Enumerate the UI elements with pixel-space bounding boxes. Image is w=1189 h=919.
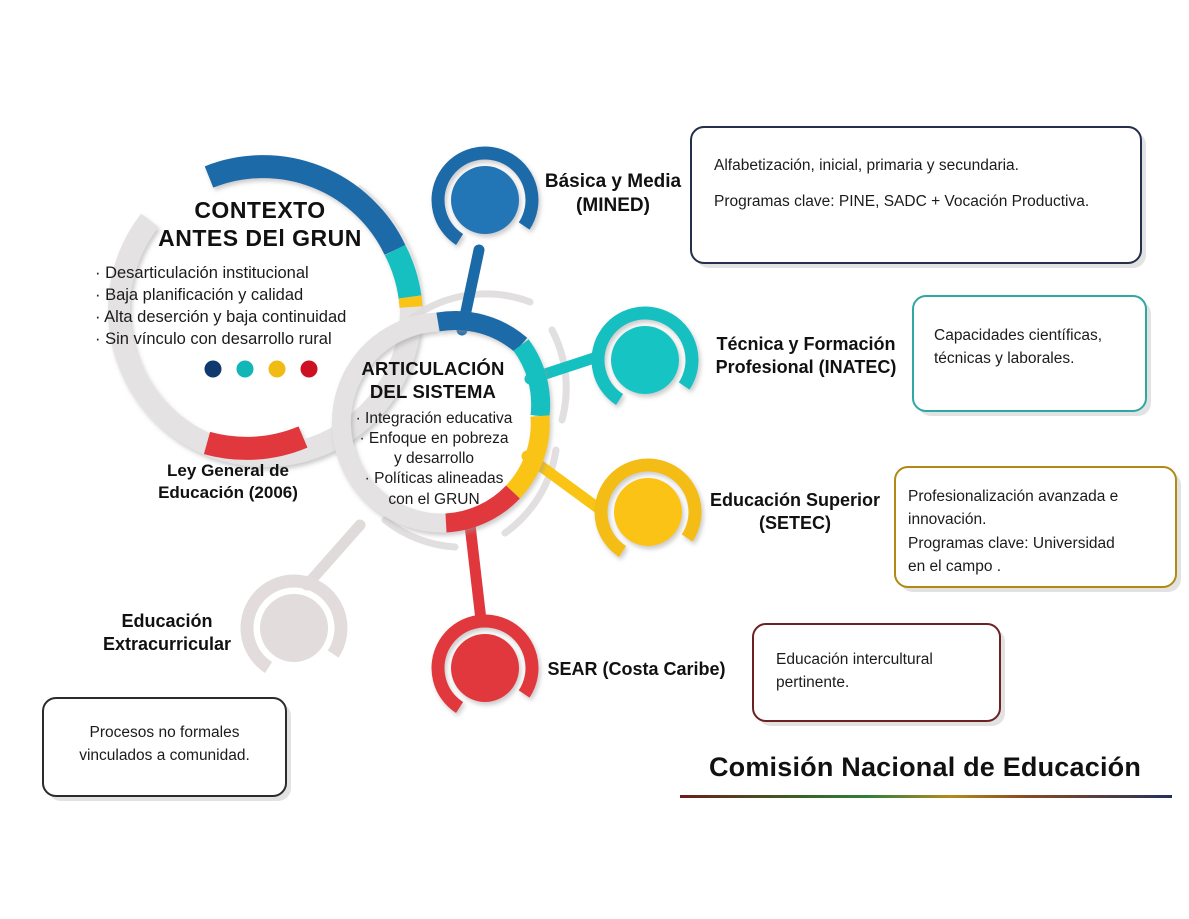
context-bullets: · Desarticulación institucional · Baja p… [95, 262, 430, 350]
node-label-setec: Educación Superior (SETEC) [697, 489, 893, 534]
center-title: ARTICULACIÓN DEL SISTEMA [338, 357, 528, 403]
callout-mined: Alfabetización, inicial, primaria y secu… [690, 126, 1142, 264]
node-label-mined: Básica y Media (MINED) [533, 170, 693, 218]
context-bullet: · Desarticulación institucional [95, 262, 430, 284]
legend-dots [205, 361, 318, 378]
center-bullets: · Integración educativa · Enfoque en pob… [330, 409, 538, 510]
callout-setec: Profesionalización avanzada e innovación… [894, 466, 1177, 588]
center-bullet: · Integración educativa [330, 409, 538, 429]
brand-underline [680, 795, 1172, 798]
callout-mined-line: Alfabetización, inicial, primaria y secu… [714, 154, 1118, 177]
node-label-setec-line1: Educación Superior [697, 489, 893, 512]
callout-mined-line: Programas clave: PINE, SADC + Vocación P… [714, 190, 1118, 213]
callout-sear-line: pertinente. [776, 671, 977, 694]
ley-general-label: Ley General de Educación (2006) [118, 460, 338, 504]
callout-sear: Educación intercultural pertinente. [752, 623, 1001, 722]
callout-extracurricular: Procesos no formales vinculados a comuni… [42, 697, 287, 797]
node-label-inatec-line2: Profesional (INATEC) [697, 356, 915, 379]
node-setec[interactable] [591, 455, 705, 569]
node-label-extra-line1: Educación [72, 610, 262, 633]
brand-title: Comisión Nacional de Educación [680, 752, 1170, 783]
callout-extra-line: Procesos no formales [58, 721, 271, 744]
context-bullet: · Baja planificación y calidad [95, 284, 430, 306]
node-label-extra-line2: Extracurricular [72, 633, 262, 656]
center-bullet: · Enfoque en pobreza [330, 429, 538, 449]
context-bullet: · Alta deserción y baja continuidad [95, 306, 430, 328]
node-mined[interactable] [428, 143, 542, 257]
node-label-inatec: Técnica y Formación Profesional (INATEC) [697, 333, 915, 378]
callout-inatec-line: técnicas y laborales. [934, 347, 1125, 370]
node-label-inatec-line1: Técnica y Formación [697, 333, 915, 356]
node-sear[interactable] [428, 611, 542, 725]
node-label-extracurricular: Educación Extracurricular [72, 610, 262, 655]
node-label-mined-line1: Básica y Media [533, 170, 693, 194]
context-title-line1: CONTEXTO [100, 196, 420, 224]
center-title-line1: ARTICULACIÓN [338, 357, 528, 380]
callout-setec-line: innovación. [908, 508, 1165, 531]
ley-label-line2: Educación (2006) [118, 482, 338, 504]
context-title: CONTEXTO ANTES DEl GRUN [100, 196, 420, 252]
center-bullet: y desarrollo [330, 449, 538, 469]
callout-inatec: Capacidades científicas, técnicas y labo… [912, 295, 1147, 412]
callout-sear-line: Educación intercultural [776, 648, 977, 671]
node-label-setec-line2: (SETEC) [697, 512, 893, 535]
node-label-sear-line1: SEAR (Costa Caribe) [534, 658, 739, 681]
ley-label-line1: Ley General de [118, 460, 338, 482]
callout-extra-line: vinculados a comunidad. [58, 744, 271, 767]
center-bullet: con el GRUN [330, 490, 538, 510]
context-bullet: · Sin vínculo con desarrollo rural [95, 328, 430, 350]
callout-setec-line: en el campo . [908, 555, 1165, 578]
center-bullet: · Políticas alineadas [330, 469, 538, 489]
context-title-line2: ANTES DEl GRUN [100, 224, 420, 252]
node-label-sear: SEAR (Costa Caribe) [534, 658, 739, 681]
center-title-line2: DEL SISTEMA [338, 380, 528, 403]
callout-inatec-line: Capacidades científicas, [934, 324, 1125, 347]
node-inatec[interactable] [588, 303, 702, 417]
callout-setec-line: Profesionalización avanzada e [908, 485, 1165, 508]
node-label-mined-line2: (MINED) [533, 194, 693, 218]
callout-setec-line: Programas clave: Universidad [908, 532, 1165, 555]
diagram-canvas: CONTEXTO ANTES DEl GRUN · Desarticulació… [0, 0, 1189, 919]
